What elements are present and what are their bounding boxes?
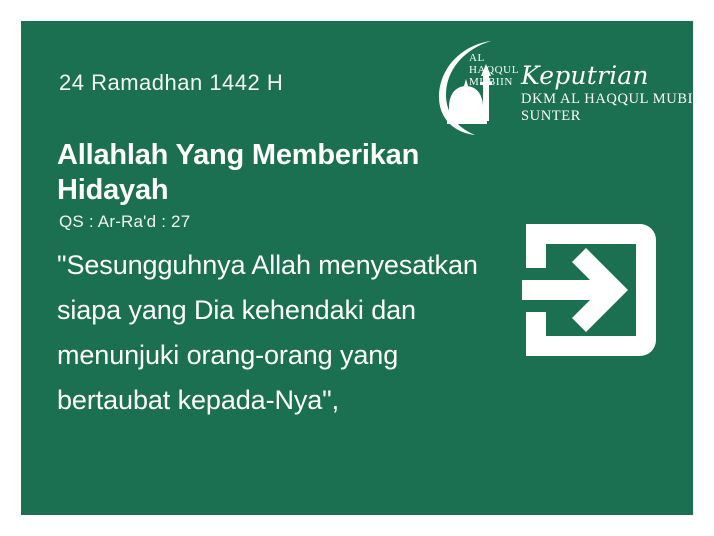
enter-arrow-into-box-icon <box>500 204 670 376</box>
brand-mark-text-haqqul: HAQQUL <box>469 64 519 76</box>
brand-mark-text-mubiin: MUBIIN <box>469 76 513 88</box>
brand-text-block: Keputrian DKM AL HAQQUL MUBIIN SUNTER <box>521 63 689 125</box>
brand-logo-group: AL HAQQUL MUBIIN Keputrian DKM AL HAQQUL… <box>425 29 685 141</box>
slide-headline: Allahlah Yang Memberikan Hidayah <box>57 138 477 208</box>
brand-subtitle-line-1: DKM AL HAQQUL MUBIIN <box>521 91 689 108</box>
brand-script-title: Keputrian <box>521 63 689 89</box>
brand-subtitle-line-2: SUNTER <box>521 108 689 125</box>
hijri-date-label: 24 Ramadhan 1442 H <box>59 70 283 96</box>
quran-reference-label: QS : Ar-Ra'd : 27 <box>59 212 190 232</box>
brand-mark-text-al: AL <box>469 52 485 64</box>
quote-body-text: "Sesungguhnya Allah menyesatkan siapa ya… <box>57 243 503 423</box>
slide-canvas: 24 Ramadhan 1442 H AL HAQQUL MUBIIN <box>21 21 693 515</box>
crescent-moon-mosque-icon: AL HAQQUL MUBIIN <box>425 31 521 137</box>
